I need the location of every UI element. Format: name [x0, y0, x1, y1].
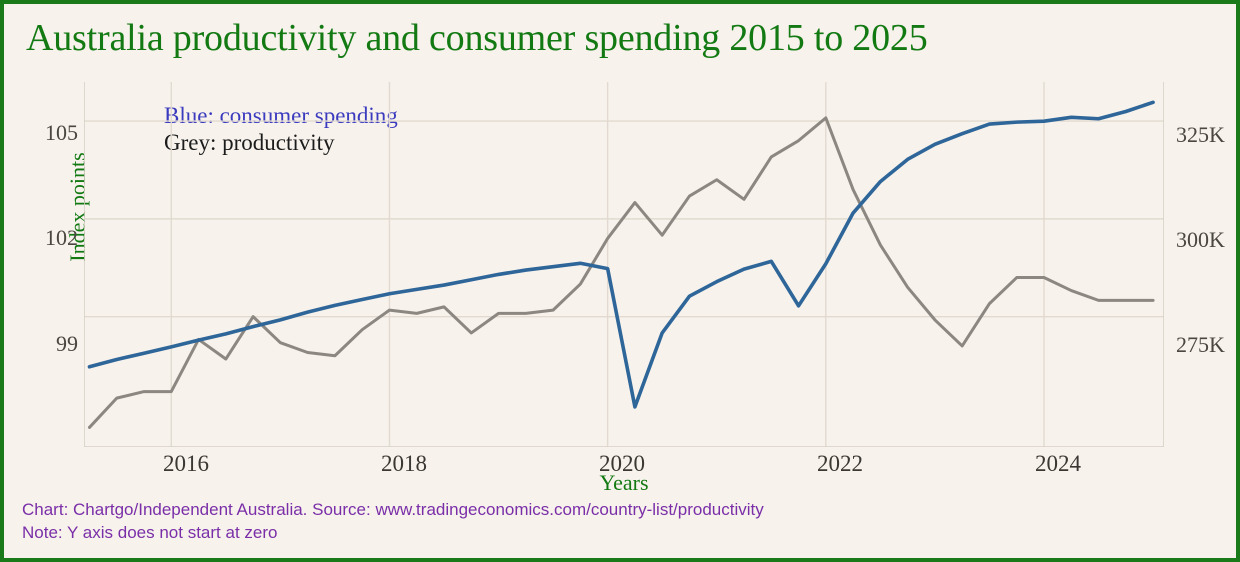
axis-frame: [84, 82, 1164, 447]
footer-note: Chart: Chartgo/Independent Australia. So…: [22, 498, 764, 544]
x-axis-tick-2016: 2016: [163, 451, 209, 477]
chart-figure: Australia productivity and consumer spen…: [0, 0, 1240, 562]
x-axis-label: Years: [599, 470, 648, 496]
y-axis-tick-right-325k: 325K: [1176, 122, 1225, 148]
series-line-productivity: [89, 118, 1153, 428]
footer-axis-note-line: Note: Y axis does not start at zero: [22, 521, 764, 544]
y-axis-tick-left-102: 102: [22, 225, 78, 251]
x-axis-tick-2022: 2022: [817, 451, 863, 477]
plot-svg: [84, 82, 1164, 447]
series-line-consumer-spending: [89, 102, 1153, 407]
y-axis-tick-right-300k: 300K: [1176, 227, 1225, 253]
gridlines: [84, 82, 1164, 447]
x-axis-tick-2024: 2024: [1035, 451, 1081, 477]
footer-source-line: Chart: Chartgo/Independent Australia. So…: [22, 498, 764, 521]
plot-area: [84, 82, 1164, 447]
y-axis-tick-left-99: 99: [22, 331, 78, 357]
y-axis-tick-right-275k: 275K: [1176, 332, 1225, 358]
x-axis-tick-2018: 2018: [381, 451, 427, 477]
y-axis-tick-left-105: 105: [22, 120, 78, 146]
page-title: Australia productivity and consumer spen…: [26, 14, 928, 62]
